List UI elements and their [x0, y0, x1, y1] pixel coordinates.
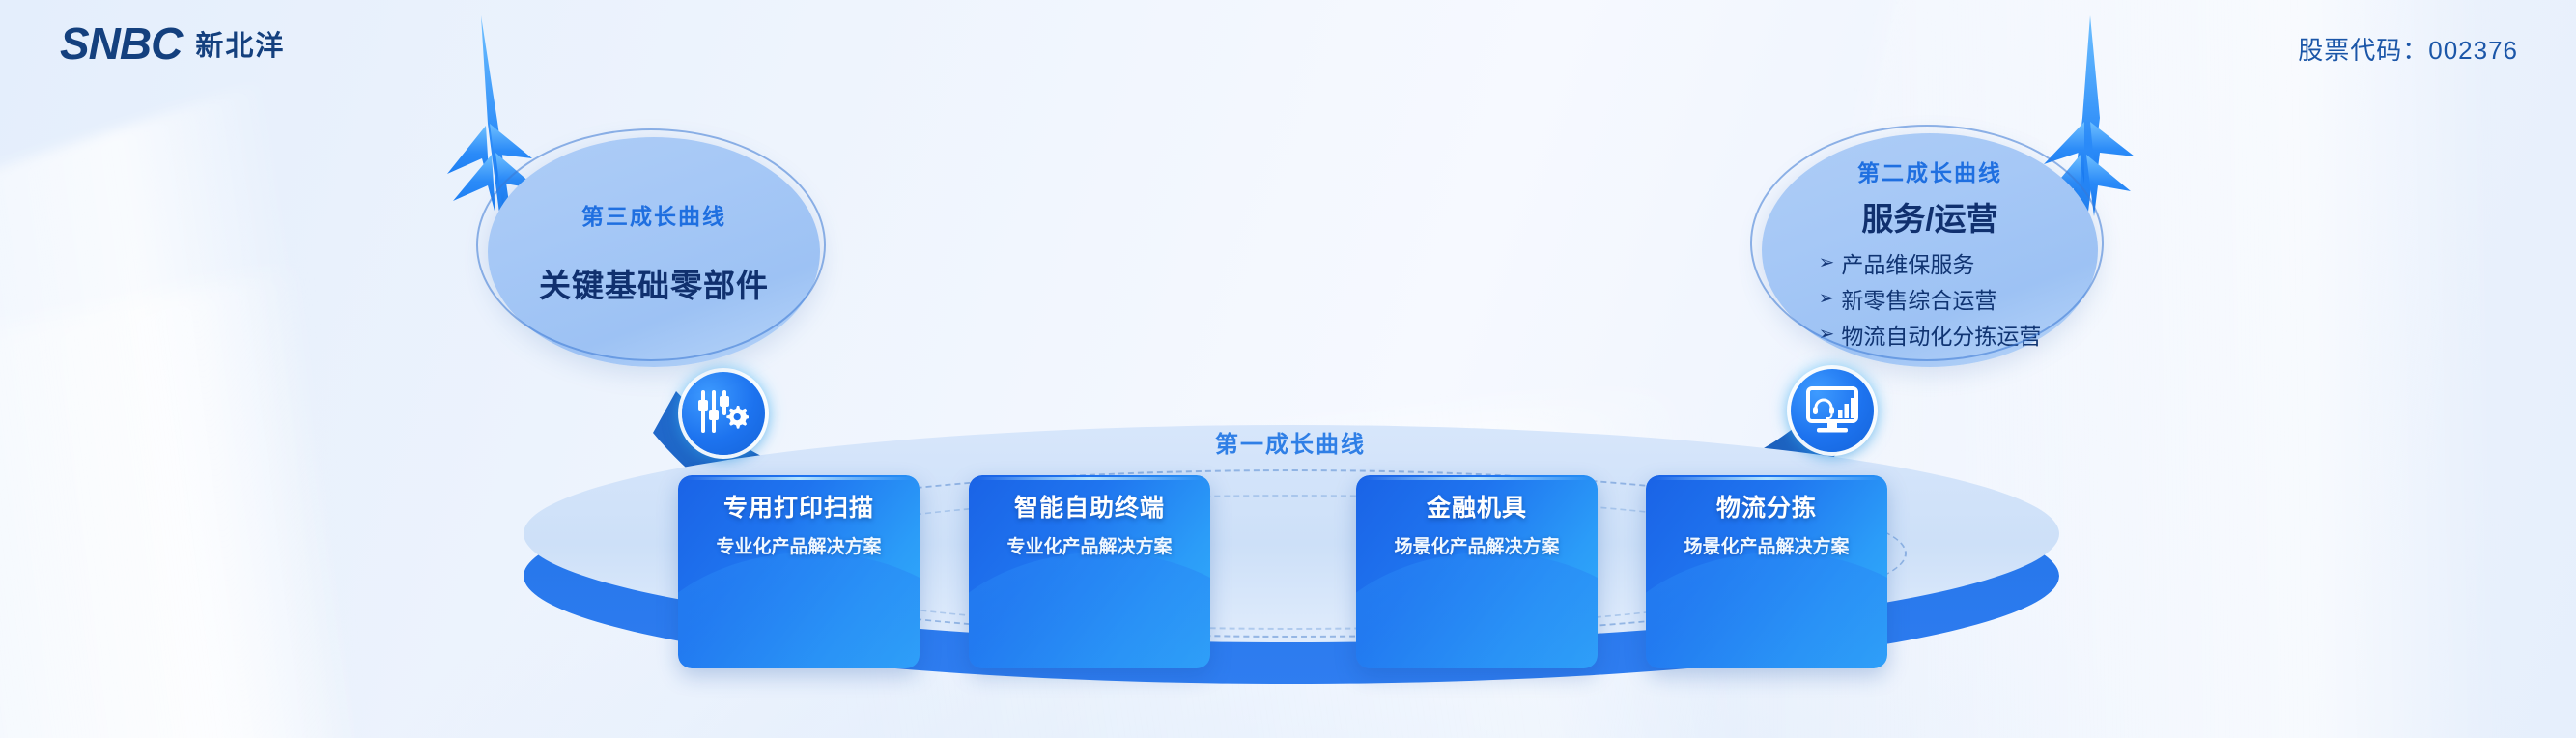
card-title: 智能自助终端: [978, 489, 1201, 524]
card-content: 物流分拣 场景化产品解决方案: [1656, 489, 1878, 558]
growth-bubble-third-curve[interactable]: 第三成长曲线 关键基础零部件: [488, 137, 820, 367]
product-card-self-service-terminal[interactable]: 智能自助终端 专业化产品解决方案: [969, 475, 1210, 668]
card-title: 物流分拣: [1656, 489, 1878, 524]
list-item: ➢ 新零售综合运营: [1819, 282, 2042, 315]
logo-wordmark: SNBC: [60, 21, 182, 66]
card-content: 专用打印扫描 专业化产品解决方案: [688, 489, 910, 558]
list-item-label: 产品维保服务: [1841, 246, 1974, 279]
first-growth-curve-label: 第一成长曲线: [1215, 425, 1366, 459]
logo-chinese-name: 新北洋: [195, 32, 285, 66]
bubble-kicker-label: 第二成长曲线: [1857, 155, 2002, 187]
bullet-arrow-icon: ➢: [1819, 289, 1835, 308]
monitor-headset-chart-icon: [1806, 386, 1858, 435]
growth-bubble-second-curve[interactable]: 第二成长曲线 服务/运营 ➢ 产品维保服务 ➢ 新零售综合运营 ➢ 物流自动化分…: [1762, 133, 2098, 367]
product-card-printing[interactable]: 专用打印扫描 专业化产品解决方案: [678, 475, 920, 668]
list-item: ➢ 物流自动化分拣运营: [1819, 318, 2042, 351]
bubble-title: 关键基础零部件: [539, 260, 769, 306]
sliders-gear-icon: [698, 390, 749, 437]
card-content: 智能自助终端 专业化产品解决方案: [978, 489, 1201, 558]
card-highlight-edge: [686, 477, 912, 480]
bullet-arrow-icon: ➢: [1819, 253, 1835, 272]
list-item: ➢ 产品维保服务: [1819, 246, 2042, 279]
bubble-title: 服务/运营: [1861, 193, 1997, 240]
card-highlight-edge: [1364, 477, 1590, 480]
card-content: 金融机具 场景化产品解决方案: [1366, 489, 1588, 558]
infographic-canvas: SNBC 新北洋 股票代码：002376: [0, 0, 2576, 738]
product-card-logistics-sorting[interactable]: 物流分拣 场景化产品解决方案: [1646, 475, 1887, 668]
list-item-label: 物流自动化分拣运营: [1841, 318, 2041, 351]
card-subtitle: 专业化产品解决方案: [688, 532, 910, 558]
node-key-components[interactable]: [682, 372, 765, 455]
bullet-arrow-icon: ➢: [1819, 325, 1835, 344]
card-title: 金融机具: [1366, 489, 1588, 524]
bubble-bullet-list: ➢ 产品维保服务 ➢ 新零售综合运营 ➢ 物流自动化分拣运营: [1819, 246, 2042, 351]
stock-code-label: 股票代码：002376: [2298, 31, 2518, 67]
list-item-label: 新零售综合运营: [1841, 282, 1996, 315]
card-subtitle: 专业化产品解决方案: [978, 532, 1201, 558]
card-highlight-edge: [1654, 477, 1880, 480]
company-logo: SNBC 新北洋: [60, 21, 285, 66]
card-highlight-edge: [977, 477, 1203, 480]
card-subtitle: 场景化产品解决方案: [1656, 532, 1878, 558]
card-subtitle: 场景化产品解决方案: [1366, 532, 1588, 558]
card-title: 专用打印扫描: [688, 489, 910, 524]
node-service-operations[interactable]: [1791, 369, 1874, 452]
product-card-financial-equipment[interactable]: 金融机具 场景化产品解决方案: [1356, 475, 1598, 668]
bubble-kicker-label: 第三成长曲线: [581, 198, 726, 231]
